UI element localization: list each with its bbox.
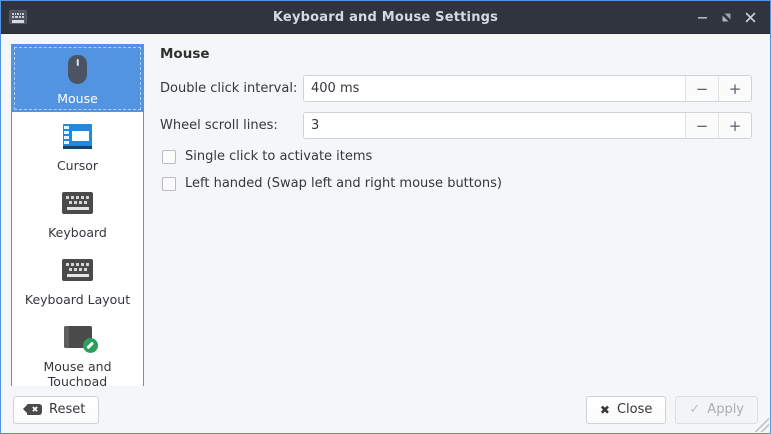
wheel-scroll-lines-decrement-button[interactable]: −	[685, 113, 718, 138]
close-button[interactable]: ✖ Close	[586, 396, 666, 424]
keyboard-icon	[60, 186, 96, 220]
keyboard-layout-icon	[60, 253, 96, 287]
sidebar-item-cursor[interactable]: Cursor	[12, 112, 143, 179]
check-icon: ✓	[689, 402, 700, 417]
left-handed-checkbox-label: Left handed (Swap left and right mouse b…	[185, 176, 502, 191]
sidebar-item-keyboard-layout[interactable]: Keyboard Layout	[12, 246, 143, 313]
apply-button[interactable]: ✓ Apply	[675, 396, 758, 424]
sidebar-item-label: Mouse and Touchpad	[14, 359, 141, 386]
minimize-icon[interactable]	[690, 5, 714, 29]
sidebar-item-label: Keyboard	[48, 225, 107, 240]
reset-button[interactable]: ✖ Reset	[13, 396, 99, 424]
cursor-window-icon	[60, 119, 96, 153]
wheel-scroll-lines-increment-button[interactable]: +	[718, 113, 751, 138]
keyboard-icon	[9, 10, 27, 24]
backspace-erase-icon: ✖	[27, 404, 42, 415]
double-click-interval-input[interactable]: 400 ms	[304, 76, 685, 101]
sidebar-item-label: Mouse	[57, 91, 98, 106]
window-content: Mouse Cursor	[1, 34, 770, 386]
window-title: Keyboard and Mouse Settings	[1, 10, 770, 25]
sidebar-item-keyboard[interactable]: Keyboard	[12, 179, 143, 246]
titlebar[interactable]: Keyboard and Mouse Settings	[1, 1, 770, 34]
double-click-interval-spinner[interactable]: 400 ms − +	[303, 75, 752, 102]
double-click-interval-row: Double click interval: 400 ms − +	[160, 75, 752, 102]
resize-grip[interactable]	[755, 418, 769, 432]
settings-window: Keyboard and Mouse Settings	[0, 0, 771, 434]
tablet-pen-icon	[60, 320, 96, 354]
sidebar-item-mouse[interactable]: Mouse	[12, 45, 143, 112]
double-click-interval-label: Double click interval:	[160, 81, 303, 96]
left-handed-checkbox[interactable]	[162, 177, 176, 191]
sidebar-item-mouse-and-touchpad[interactable]: Mouse and Touchpad	[12, 313, 143, 386]
sidebar-item-label: Keyboard Layout	[25, 292, 130, 307]
section-title: Mouse	[160, 46, 752, 62]
apply-button-label: Apply	[707, 402, 744, 417]
window-controls	[690, 5, 770, 29]
single-click-checkbox-row[interactable]: Single click to activate items	[162, 149, 752, 164]
maximize-icon[interactable]	[714, 5, 738, 29]
reset-button-label: Reset	[49, 402, 85, 417]
footer-actions: ✖ Close ✓ Apply	[586, 396, 758, 424]
category-sidebar[interactable]: Mouse Cursor	[11, 44, 144, 386]
single-click-checkbox-label: Single click to activate items	[185, 149, 372, 164]
wheel-scroll-lines-label: Wheel scroll lines:	[160, 118, 303, 133]
single-click-checkbox[interactable]	[162, 150, 176, 164]
left-handed-checkbox-row[interactable]: Left handed (Swap left and right mouse b…	[162, 176, 752, 191]
wheel-scroll-lines-spinner[interactable]: 3 − +	[303, 112, 752, 139]
double-click-interval-increment-button[interactable]: +	[718, 76, 751, 101]
close-button-label: Close	[617, 402, 652, 417]
close-icon[interactable]	[738, 5, 762, 29]
wheel-scroll-lines-row: Wheel scroll lines: 3 − +	[160, 112, 752, 139]
wheel-scroll-lines-input[interactable]: 3	[304, 113, 685, 138]
double-click-interval-decrement-button[interactable]: −	[685, 76, 718, 101]
sidebar-item-label: Cursor	[57, 158, 98, 173]
dialog-footer: ✖ Reset ✖ Close ✓ Apply	[1, 386, 770, 433]
settings-panel: Mouse Double click interval: 400 ms − + …	[144, 44, 760, 386]
mouse-icon	[60, 52, 96, 86]
x-icon: ✖	[600, 403, 610, 417]
